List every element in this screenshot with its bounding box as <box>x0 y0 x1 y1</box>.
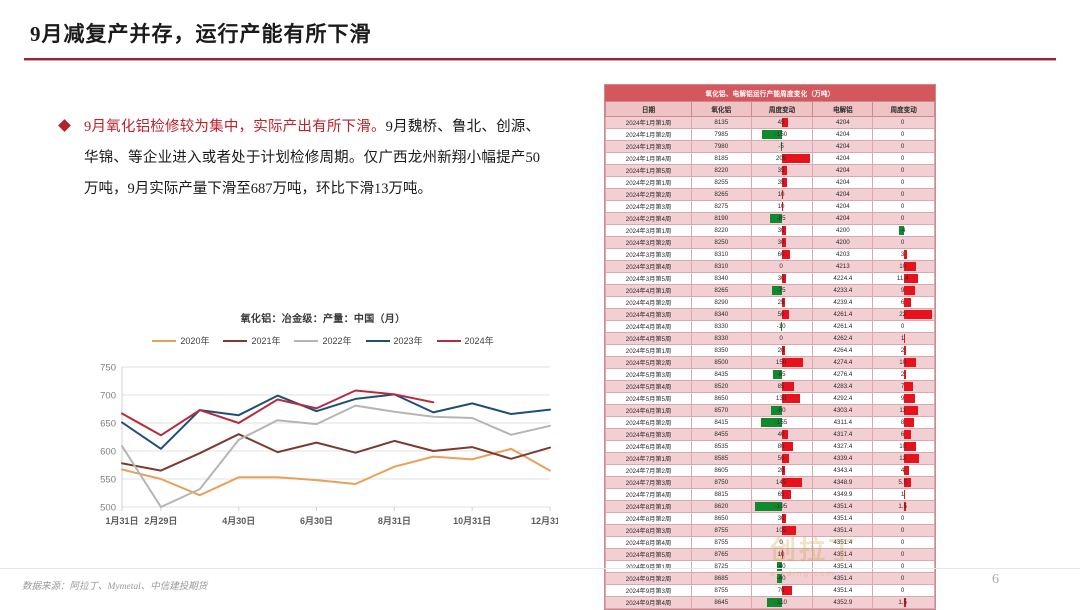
cell-alumina-delta: 65 <box>751 489 813 501</box>
cell-aluminium-delta: 10 <box>873 261 935 273</box>
cell-date: 2024年4月第4周 <box>606 321 692 333</box>
cell-aluminium: 4204 <box>813 129 873 141</box>
footer-divider <box>0 568 1080 569</box>
cell-aluminium-delta: 0 <box>873 573 935 585</box>
table-row: 2024年2月第2周82651042040 <box>606 189 935 201</box>
legend-swatch-icon <box>223 340 247 342</box>
delta-value: 130 <box>776 395 786 402</box>
cell-date: 2024年9月第3周 <box>606 585 692 597</box>
delta-value: -75 <box>777 287 786 294</box>
table-row: 2024年3月第1周8220304200-4 <box>606 225 935 237</box>
cell-aluminium-delta: 1.5 <box>873 501 935 513</box>
delta-value: 0 <box>901 167 904 174</box>
cell-aluminium-delta: 1 <box>873 333 935 345</box>
delta-value: 11.4 <box>897 275 909 282</box>
cell-alumina: 8220 <box>691 225 751 237</box>
delta-value: 0 <box>901 119 904 126</box>
cell-aluminium: 4204 <box>813 189 873 201</box>
delta-value: -110 <box>775 599 787 606</box>
table-row: 2024年1月第2周7985-15042040 <box>606 129 935 141</box>
cell-date: 2024年3月第5周 <box>606 273 692 285</box>
table-row: 2024年2月第4周8190-8542040 <box>606 213 935 225</box>
x-axis-tick: 2月29日 <box>144 516 177 526</box>
delta-value: 0 <box>901 539 904 546</box>
cell-aluminium-delta: 6 <box>873 429 935 441</box>
cell-aluminium: 4262.4 <box>813 333 873 345</box>
x-axis-tick: 12月31日 <box>531 516 558 526</box>
cell-aluminium: 4213 <box>813 261 873 273</box>
cell-alumina-delta: 30 <box>751 513 813 525</box>
cell-date: 2024年5月第2周 <box>606 357 692 369</box>
table-row: 2024年9月第3周8755704351.40 <box>606 585 935 597</box>
chart-svg: 5005506006507007501月31日2月29日4月30日6月30日8月… <box>88 355 558 541</box>
delta-value: 5.5 <box>898 479 907 486</box>
delta-value: 60 <box>778 251 785 258</box>
delta-value: 45 <box>778 119 785 126</box>
cell-date: 2024年8月第1周 <box>606 501 692 513</box>
delta-value: -10 <box>777 323 786 330</box>
delta-value: 11 <box>899 407 905 414</box>
cell-alumina: 8685 <box>691 573 751 585</box>
table-row: 2024年3月第2周82503042000 <box>606 237 935 249</box>
cell-aluminium-delta: 0 <box>873 513 935 525</box>
delta-value: 0 <box>901 143 904 150</box>
cell-alumina-delta: 130 <box>751 393 813 405</box>
cell-aluminium-delta: 4 <box>873 465 935 477</box>
delta-value: 0 <box>901 155 904 162</box>
data-bar <box>904 298 912 307</box>
cell-date: 2024年2月第4周 <box>606 213 692 225</box>
cell-aluminium: 4339.4 <box>813 453 873 465</box>
cell-alumina: 8275 <box>691 201 751 213</box>
cell-alumina-delta: 45 <box>751 117 813 129</box>
cell-alumina: 8350 <box>691 345 751 357</box>
cell-alumina-delta: -85 <box>751 213 813 225</box>
data-bar <box>904 418 914 427</box>
chart-plot-area: 5005506006507007501月31日2月29日4月30日6月30日8月… <box>88 355 558 541</box>
page-number: 6 <box>992 572 999 588</box>
table-row: 2024年9月第1周8725-404351.40 <box>606 561 935 573</box>
cell-date: 2024年2月第1周 <box>606 177 692 189</box>
table-row: 2024年6月第3周8455404317.46 <box>606 429 935 441</box>
cell-date: 2024年9月第4周 <box>606 597 692 609</box>
cell-alumina-delta: 105 <box>751 525 813 537</box>
table-row: 2024年1月第1周81354542040 <box>606 117 935 129</box>
cell-aluminium: 4204 <box>813 165 873 177</box>
cell-aluminium-delta: 0 <box>873 321 935 333</box>
delta-value: 20 <box>778 347 785 354</box>
cell-aluminium-delta: 3 <box>873 249 935 261</box>
cell-aluminium: 4204 <box>813 177 873 189</box>
cell-date: 2024年7月第2周 <box>606 465 692 477</box>
delta-value: 1 <box>901 491 904 498</box>
cell-aluminium: 4317.4 <box>813 429 873 441</box>
cell-date: 2024年2月第3周 <box>606 201 692 213</box>
cell-alumina-delta: -75 <box>751 285 813 297</box>
cell-alumina: 8755 <box>691 525 751 537</box>
cell-alumina-delta: -40 <box>751 573 813 585</box>
title-divider-secondary <box>24 60 1056 61</box>
cell-date: 2024年5月第3周 <box>606 369 692 381</box>
cell-date: 2024年3月第4周 <box>606 261 692 273</box>
cell-alumina-delta: 10 <box>751 201 813 213</box>
cell-alumina: 8265 <box>691 285 751 297</box>
cell-aluminium: 4343.4 <box>813 465 873 477</box>
cell-alumina: 8620 <box>691 501 751 513</box>
delta-value: 105 <box>776 527 786 534</box>
cell-alumina: 7980 <box>691 141 751 153</box>
slide-header: 9月减复产并存，运行产能有所下滑 <box>0 18 1080 66</box>
cell-date: 2024年2月第2周 <box>606 189 692 201</box>
cell-alumina: 8330 <box>691 321 751 333</box>
y-axis-tick: 500 <box>100 503 116 514</box>
table-caption: 氧化铝、电解铝运行产能周度变化（万吨） <box>605 85 935 101</box>
cell-alumina-delta: 10 <box>751 189 813 201</box>
cell-date: 2024年5月第4周 <box>606 381 692 393</box>
delta-value: 0 <box>901 215 904 222</box>
cell-alumina-delta: 25 <box>751 297 813 309</box>
cell-aluminium-delta: 9 <box>873 393 935 405</box>
cell-date: 2024年8月第4周 <box>606 537 692 549</box>
data-bar <box>904 430 912 439</box>
cell-date: 2024年6月第2周 <box>606 417 692 429</box>
y-axis-tick: 550 <box>100 475 116 486</box>
cell-alumina: 8255 <box>691 177 751 189</box>
delta-value: 30 <box>778 515 785 522</box>
table-row: 2024年8月第3周87551054351.40 <box>606 525 935 537</box>
cell-alumina: 8340 <box>691 309 751 321</box>
cell-alumina: 8500 <box>691 357 751 369</box>
cell-aluminium-delta: 0 <box>873 189 935 201</box>
cell-alumina-delta: -65 <box>751 369 813 381</box>
delta-value: 0 <box>901 587 904 594</box>
cell-date: 2024年6月第4周 <box>606 441 692 453</box>
cell-aluminium-delta: 10 <box>873 357 935 369</box>
delta-value: 0 <box>779 335 782 342</box>
legend-swatch-icon <box>294 340 318 342</box>
cell-date: 2024年1月第3周 <box>606 141 692 153</box>
cell-alumina: 8250 <box>691 237 751 249</box>
delta-value: 0 <box>779 539 782 546</box>
cell-date: 2024年9月第2周 <box>606 573 692 585</box>
cell-aluminium-delta: 2 <box>873 369 935 381</box>
cell-date: 2024年1月第2周 <box>606 129 692 141</box>
data-bar <box>904 394 916 403</box>
delta-value: 2 <box>901 347 904 354</box>
delta-value: -80 <box>777 407 786 414</box>
table-row: 2024年8月第2周8650304351.40 <box>606 513 935 525</box>
delta-value: 4 <box>901 467 904 474</box>
cell-aluminium-delta: 9 <box>873 285 935 297</box>
cell-aluminium: 4204 <box>813 153 873 165</box>
table-row: 2024年8月第1周8620-1954351.41.5 <box>606 501 935 513</box>
delta-value: -150 <box>775 131 787 138</box>
table-row: 2024年6月第4周8535804327.410 <box>606 441 935 453</box>
cell-aluminium-delta: 0 <box>873 549 935 561</box>
delta-value: 3 <box>901 251 904 258</box>
delta-value: 50 <box>778 455 785 462</box>
cell-date: 2024年4月第2周 <box>606 297 692 309</box>
cell-alumina: 8435 <box>691 369 751 381</box>
cell-alumina: 8520 <box>691 381 751 393</box>
x-axis-tick: 6月30日 <box>300 516 333 526</box>
cell-date: 2024年3月第1周 <box>606 225 692 237</box>
cell-date: 2024年5月第5周 <box>606 393 692 405</box>
cell-aluminium-delta: 8 <box>873 417 935 429</box>
series-line-2021年 <box>122 434 550 470</box>
cell-alumina: 8310 <box>691 261 751 273</box>
delta-value: -40 <box>777 563 786 570</box>
cell-alumina-delta: -110 <box>751 597 813 609</box>
cell-aluminium: 4351.4 <box>813 573 873 585</box>
table-row: 2024年5月第5周86501304292.49 <box>606 393 935 405</box>
delta-value: 205 <box>776 155 786 162</box>
delta-value: -85 <box>777 215 786 222</box>
cell-date: 2024年9月第1周 <box>606 561 692 573</box>
bullet-highlight: 9月氧化铝检修较为集中，实际产出有所下滑。 <box>84 119 386 135</box>
cell-alumina-delta: 20 <box>751 345 813 357</box>
cell-alumina: 8415 <box>691 417 751 429</box>
cell-aluminium: 4274.4 <box>813 357 873 369</box>
cell-alumina-delta: -150 <box>751 129 813 141</box>
cell-alumina: 8185 <box>691 153 751 165</box>
cell-date: 2024年3月第3周 <box>606 249 692 261</box>
production-line-chart: 氧化铝：冶金级：产量：中国（月） 2020年2021年2022年2023年202… <box>88 306 558 556</box>
cell-aluminium-delta: 0 <box>873 525 935 537</box>
cell-aluminium-delta: 6 <box>873 297 935 309</box>
x-axis-tick: 1月31日 <box>105 516 138 526</box>
table-row: 2024年6月第2周8415-1554311.48 <box>606 417 935 429</box>
table-column-header: 日期 <box>606 102 692 117</box>
cell-aluminium-delta: 0 <box>873 117 935 129</box>
delta-value: 9 <box>901 395 904 402</box>
cell-date: 2024年1月第1周 <box>606 117 692 129</box>
table-row: 2024年7月第4周8815654349.91 <box>606 489 935 501</box>
cell-aluminium: 4351.4 <box>813 537 873 549</box>
cell-date: 2024年7月第4周 <box>606 489 692 501</box>
delta-value: 85 <box>778 383 785 390</box>
cell-aluminium-delta: 0 <box>873 177 935 189</box>
legend-label: 2023年 <box>394 334 423 347</box>
table-row: 2024年5月第3周8435-654276.42 <box>606 369 935 381</box>
cell-aluminium-delta: 7 <box>873 381 935 393</box>
cell-alumina: 8755 <box>691 537 751 549</box>
y-axis-tick: 700 <box>100 391 116 402</box>
cell-aluminium: 4239.4 <box>813 297 873 309</box>
delta-value: 0 <box>901 191 904 198</box>
cell-aluminium-delta: 0 <box>873 237 935 249</box>
table-row: 2024年3月第5周8340304224.411.4 <box>606 273 935 285</box>
data-bar <box>904 286 916 295</box>
source-note: 数据来源：阿拉丁、Mymetal、中信建投期货 <box>22 578 207 592</box>
cell-date: 2024年6月第3周 <box>606 429 692 441</box>
delta-value: 22 <box>899 311 906 318</box>
table-header-row: 日期氧化铝周度变动电解铝周度变动 <box>606 102 935 117</box>
cell-date: 2024年8月第2周 <box>606 513 692 525</box>
legend-item-2020年: 2020年 <box>152 334 209 347</box>
diamond-bullet-icon <box>58 119 71 132</box>
data-bar <box>782 154 810 163</box>
cell-alumina-delta: 60 <box>751 249 813 261</box>
delta-value: 0 <box>901 575 904 582</box>
cell-aluminium-delta: 0 <box>873 213 935 225</box>
legend-swatch-icon <box>437 340 461 342</box>
table-row: 2024年7月第1周8585504339.412 <box>606 453 935 465</box>
delta-value: 10 <box>778 551 785 558</box>
cell-aluminium: 4311.4 <box>813 417 873 429</box>
cell-alumina-delta: 0 <box>751 333 813 345</box>
cell-alumina-delta: 10 <box>751 549 813 561</box>
table-row: 2024年8月第4周875504351.40 <box>606 537 935 549</box>
cell-alumina: 8135 <box>691 117 751 129</box>
delta-value: 6 <box>901 431 904 438</box>
cell-alumina-delta: -10 <box>751 321 813 333</box>
delta-value: 6 <box>901 299 904 306</box>
cell-date: 2024年4月第3周 <box>606 309 692 321</box>
legend-item-2021年: 2021年 <box>223 334 280 347</box>
delta-value: -40 <box>777 575 786 582</box>
legend-label: 2021年 <box>251 334 280 347</box>
delta-value: 0 <box>901 563 904 570</box>
delta-value: 30 <box>778 239 785 246</box>
delta-value: 0 <box>901 515 904 522</box>
cell-aluminium-delta: 12 <box>873 453 935 465</box>
table-row: 2024年9月第4周8645-1104352.91.5 <box>606 597 935 609</box>
cell-aluminium: 4204 <box>813 201 873 213</box>
delta-value: -4 <box>900 227 906 234</box>
table-row: 2024年3月第3周83106042033 <box>606 249 935 261</box>
cell-alumina: 8645 <box>691 597 751 609</box>
delta-value: 12 <box>899 455 906 462</box>
data-bar <box>904 466 909 475</box>
page-title: 9月减复产并存，运行产能有所下滑 <box>30 18 372 48</box>
table-row: 2024年1月第5周82203542040 <box>606 165 935 177</box>
cell-alumina-delta: -40 <box>751 561 813 573</box>
bullet-text: 9月氧化铝检修较为集中，实际产出有所下滑。9月魏桥、鲁北、创源、华锦、等企业进入… <box>84 112 540 205</box>
cell-alumina-delta: 80 <box>751 441 813 453</box>
cell-aluminium: 4348.9 <box>813 477 873 489</box>
bullet-block: 9月氧化铝检修较为集中，实际产出有所下滑。9月魏桥、鲁北、创源、华锦、等企业进入… <box>60 112 540 205</box>
legend-item-2024年: 2024年 <box>437 334 494 347</box>
cell-alumina-delta: 30 <box>751 237 813 249</box>
table-row: 2024年4月第2周8290254239.46 <box>606 297 935 309</box>
legend-label: 2024年 <box>465 334 494 347</box>
delta-value: 1.5 <box>898 599 907 606</box>
legend-item-2023年: 2023年 <box>366 334 423 347</box>
cell-aluminium: 4261.4 <box>813 309 873 321</box>
delta-value: -5 <box>778 143 784 150</box>
delta-value: 70 <box>778 587 785 594</box>
cell-date: 2024年4月第1周 <box>606 285 692 297</box>
delta-value: 150 <box>776 359 786 366</box>
cell-alumina: 8750 <box>691 477 751 489</box>
cell-aluminium: 4233.4 <box>813 285 873 297</box>
delta-value: 10 <box>778 203 785 210</box>
cell-alumina: 8650 <box>691 513 751 525</box>
cell-aluminium-delta: 11 <box>873 405 935 417</box>
delta-value: 10 <box>778 191 785 198</box>
delta-value: 2 <box>901 371 904 378</box>
delta-value: 10 <box>899 263 906 270</box>
legend-swatch-icon <box>366 340 390 342</box>
cell-alumina: 8535 <box>691 441 751 453</box>
delta-value: 0 <box>901 551 904 558</box>
cell-alumina-delta: 85 <box>751 381 813 393</box>
cell-aluminium-delta: 0 <box>873 585 935 597</box>
cell-aluminium: 4204 <box>813 141 873 153</box>
delta-value: 65 <box>778 491 785 498</box>
cell-aluminium-delta: 0 <box>873 129 935 141</box>
cell-aluminium-delta: 22 <box>873 309 935 321</box>
table-row: 2024年1月第4周818520542040 <box>606 153 935 165</box>
cell-alumina: 8265 <box>691 189 751 201</box>
table-row: 2024年8月第5周8765104351.40 <box>606 549 935 561</box>
table-row: 2024年4月第5周833004262.41 <box>606 333 935 345</box>
cell-aluminium-delta: -4 <box>873 225 935 237</box>
delta-value: 0 <box>901 203 904 210</box>
cell-aluminium: 4351.4 <box>813 585 873 597</box>
x-axis-tick: 4月30日 <box>222 516 255 526</box>
delta-value: 0 <box>901 239 904 246</box>
cell-aluminium: 4224.4 <box>813 273 873 285</box>
table-row: 2024年3月第4周83100421310 <box>606 261 935 273</box>
table-row: 2024年4月第4周8330-104261.40 <box>606 321 935 333</box>
cell-aluminium: 4200 <box>813 225 873 237</box>
cell-alumina-delta: 35 <box>751 177 813 189</box>
delta-value: 30 <box>778 275 785 282</box>
series-line-2024年 <box>122 391 433 436</box>
table-row: 2024年9月第2周8685-404351.40 <box>606 573 935 585</box>
table-column-header: 电解铝 <box>813 102 873 117</box>
cell-aluminium: 4303.4 <box>813 405 873 417</box>
table-row: 2024年5月第2周85001504274.410 <box>606 357 935 369</box>
delta-value: 0 <box>901 131 904 138</box>
delta-value: 10 <box>899 359 906 366</box>
cell-aluminium: 4292.4 <box>813 393 873 405</box>
cell-alumina-delta: 150 <box>751 357 813 369</box>
cell-date: 2024年7月第3周 <box>606 477 692 489</box>
chart-title: 氧化铝：冶金级：产量：中国（月） <box>88 310 558 325</box>
cell-aluminium-delta: 1.5 <box>873 597 935 609</box>
cell-aluminium: 4352.9 <box>813 597 873 609</box>
cell-alumina: 8455 <box>691 429 751 441</box>
table-row: 2024年7月第2周8605204343.44 <box>606 465 935 477</box>
cell-date: 2024年1月第4周 <box>606 153 692 165</box>
cell-aluminium: 4203 <box>813 249 873 261</box>
delta-value: -155 <box>775 419 787 426</box>
cell-alumina: 8755 <box>691 585 751 597</box>
delta-value: 50 <box>778 311 785 318</box>
chart-legend: 2020年2021年2022年2023年2024年 <box>88 334 558 347</box>
cell-aluminium: 4351.4 <box>813 561 873 573</box>
data-bar <box>904 310 932 319</box>
delta-value: 0 <box>901 527 904 534</box>
cell-alumina: 8340 <box>691 273 751 285</box>
delta-value: -65 <box>777 371 786 378</box>
cell-aluminium-delta: 1 <box>873 489 935 501</box>
table-column-header: 周度变动 <box>751 102 813 117</box>
cell-alumina-delta: 0 <box>751 261 813 273</box>
cell-aluminium-delta: 11.4 <box>873 273 935 285</box>
cell-aluminium: 4261.4 <box>813 321 873 333</box>
cell-aluminium-delta: 0 <box>873 165 935 177</box>
delta-value: 0 <box>901 179 904 186</box>
cell-alumina-delta: 50 <box>751 309 813 321</box>
cell-aluminium-delta: 0 <box>873 201 935 213</box>
y-axis-tick: 650 <box>100 419 116 430</box>
table-row: 2024年2月第3周82751042040 <box>606 201 935 213</box>
cell-date: 2024年5月第1周 <box>606 345 692 357</box>
